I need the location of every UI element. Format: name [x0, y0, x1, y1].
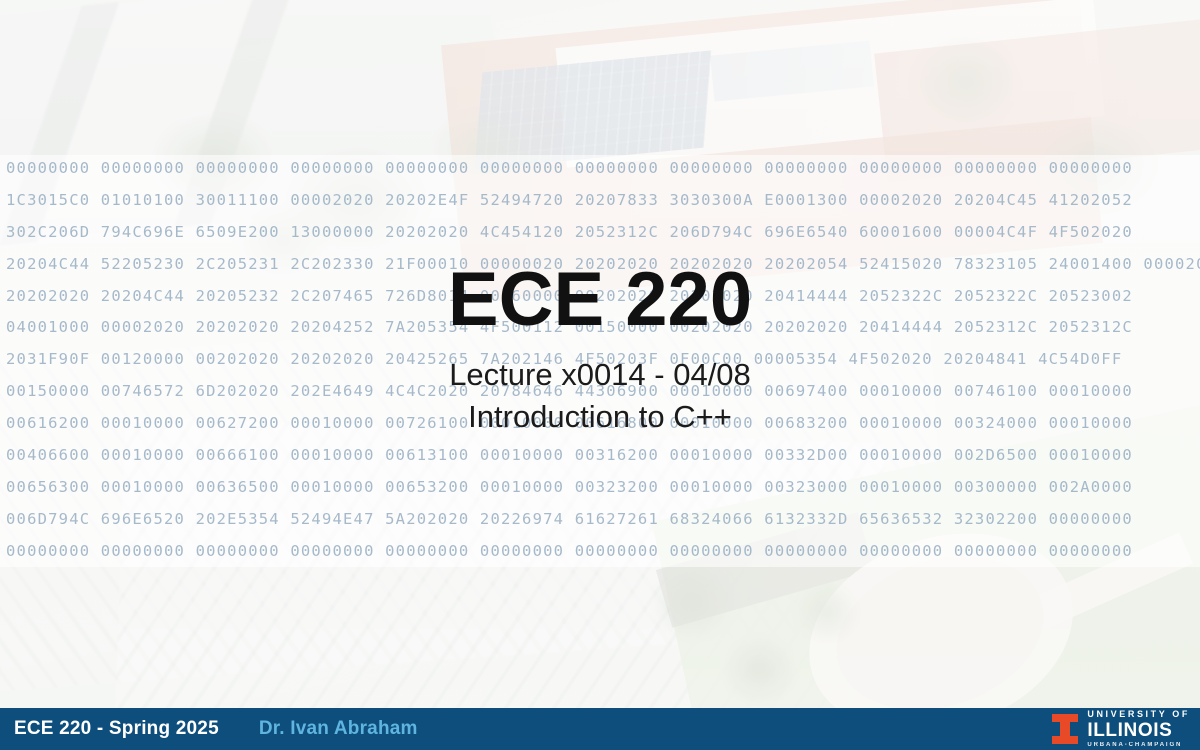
hex-dump-row: 00000000 00000000 00000000 00000000 0000…	[0, 544, 1200, 560]
hex-dump-row: 04001000 00002020 20202020 20204252 7A20…	[0, 320, 1200, 336]
hex-dump-row: 00000000 00000000 00000000 00000000 0000…	[0, 161, 1200, 177]
block-i-stem	[1060, 722, 1070, 736]
hex-dump-row: 1C3015C0 01010100 30011100 00002020 2020…	[0, 193, 1200, 209]
hex-dump-overlay: 00000000 00000000 00000000 00000000 0000…	[0, 155, 1200, 567]
logo-illinois-line: ILLINOIS	[1087, 721, 1190, 740]
hex-dump-row: 2031F90F 00120000 00202020 20202020 2042…	[0, 352, 1200, 368]
block-i-top-bar	[1052, 714, 1078, 722]
block-i-bottom-bar	[1052, 736, 1078, 744]
hex-dump-row: 00150000 00746572 6D202020 202E4649 4C4C…	[0, 384, 1200, 400]
presentation-slide: 00000000 00000000 00000000 00000000 0000…	[0, 0, 1200, 750]
illinois-block-i-icon	[1052, 714, 1078, 744]
hex-dump-row: 302C206D 794C696E 6509E200 13000000 2020…	[0, 225, 1200, 241]
footer-course-label: ECE 220 - Spring 2025	[14, 718, 219, 740]
hex-dump-row: 00616200 00010000 00627200 00010000 0072…	[0, 416, 1200, 432]
university-of-illinois-logo: UNIVERSITY OF ILLINOIS URBANA-CHAMPAIGN	[1052, 710, 1190, 748]
hex-dump-row: 20202020 20204C44 20205232 2C207465 726D…	[0, 289, 1200, 305]
slide-footer: ECE 220 - Spring 2025 Dr. Ivan Abraham U…	[0, 708, 1200, 750]
footer-instructor-label: Dr. Ivan Abraham	[259, 718, 418, 740]
hex-dump-row: 006D794C 696E6520 202E5354 52494E47 5A20…	[0, 512, 1200, 528]
hex-dump-row: 20204C44 52205230 2C205231 2C202330 21F0…	[0, 257, 1200, 273]
hex-dump-row: 00406600 00010000 00666100 00010000 0061…	[0, 448, 1200, 464]
hex-dump-row: 00656300 00010000 00636500 00010000 0065…	[0, 480, 1200, 496]
logo-wordmark: UNIVERSITY OF ILLINOIS URBANA-CHAMPAIGN	[1087, 710, 1190, 748]
logo-campus-line: URBANA-CHAMPAIGN	[1087, 742, 1190, 748]
logo-university-line: UNIVERSITY OF	[1087, 710, 1190, 719]
